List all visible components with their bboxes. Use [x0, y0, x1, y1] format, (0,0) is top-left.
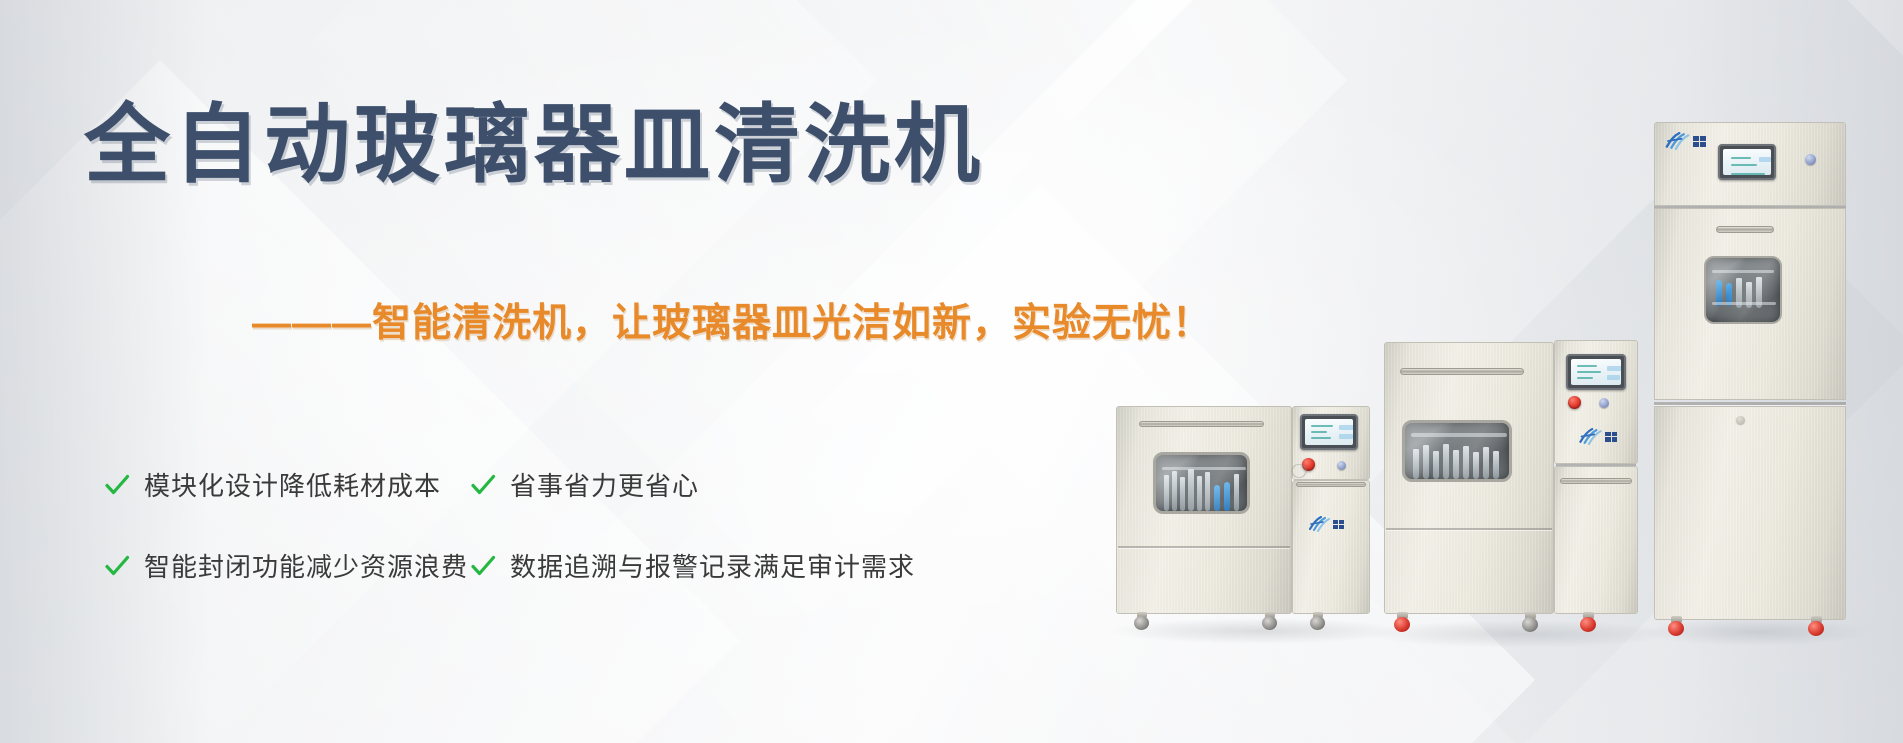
caster-wheel [1394, 612, 1411, 632]
brushed-steel-texture [1555, 467, 1637, 613]
screen-widget [1759, 157, 1771, 162]
touchscreen-display [1723, 149, 1771, 175]
tower-lower-cabinet [1554, 466, 1638, 614]
product-image-undercounter-washer [1112, 404, 1402, 644]
caster-wheel [1522, 612, 1539, 632]
logo-squares [1605, 432, 1617, 442]
window-reflection [1405, 423, 1509, 479]
panel-seam-highlight [1118, 548, 1290, 549]
touchscreen-display [1571, 359, 1621, 385]
button-label-ring [1290, 464, 1308, 478]
viewing-window [1153, 452, 1250, 514]
product-shadow [1366, 620, 1676, 648]
screen-widget [1607, 375, 1620, 380]
lower-cabinet [1654, 406, 1846, 620]
cabinet-latch[interactable] [1736, 416, 1745, 424]
h-logo-mark [1578, 428, 1602, 445]
viewing-window [1704, 256, 1782, 324]
touchscreen[interactable] [1300, 414, 1358, 450]
caster-wheel [1134, 612, 1150, 630]
brushed-steel-texture [1655, 407, 1845, 619]
h-brand-logo [1578, 428, 1617, 445]
screen-text-line [1311, 431, 1327, 433]
power-button[interactable] [1337, 461, 1346, 470]
caster-wheel [1310, 612, 1326, 630]
logo-squares [1693, 136, 1706, 147]
window-reflection [1156, 455, 1247, 511]
brushed-steel-texture [1293, 481, 1369, 613]
product-images [0, 0, 1903, 743]
screen-text-line [1311, 437, 1331, 439]
power-button[interactable] [1599, 398, 1609, 408]
product-image-freestanding-washer [1370, 328, 1670, 648]
screen-text-line [1731, 157, 1751, 159]
screen-text-line [1311, 425, 1333, 427]
screen-text-line [1577, 377, 1593, 379]
h-logo-mark [1664, 132, 1690, 150]
panel-seam-highlight [1386, 530, 1552, 531]
door-handle [1139, 421, 1264, 427]
door-handle [1400, 368, 1524, 375]
h-logo-mark [1308, 516, 1330, 532]
caster-wheel [1668, 616, 1685, 636]
screen-text-line [1731, 173, 1765, 175]
caster-wheel [1262, 612, 1278, 630]
door-handle [1716, 226, 1774, 233]
screen-text-line [1577, 371, 1601, 373]
product-banner: 全自动玻璃器皿清洗机 ———智能清洗机，让玻璃器皿光洁如新，实验无忧！ 模块化设… [0, 0, 1903, 743]
screen-widget [1339, 434, 1353, 439]
logo-squares [1333, 520, 1344, 529]
screen-text-line [1731, 164, 1757, 166]
caster-wheel [1808, 616, 1825, 636]
cabinet-handle [1560, 478, 1632, 484]
screen-widget [1607, 366, 1621, 371]
caster-wheel [1580, 612, 1597, 632]
product-image-tall-column-washer [1648, 118, 1868, 648]
screen-text-line [1577, 365, 1597, 367]
h-brand-logo [1664, 132, 1706, 150]
touchscreen[interactable] [1718, 144, 1776, 180]
viewing-window [1402, 420, 1512, 482]
touchscreen-display [1305, 419, 1353, 445]
power-button[interactable] [1805, 154, 1816, 165]
touchscreen[interactable] [1566, 354, 1626, 390]
emergency-stop-button[interactable] [1568, 396, 1581, 409]
cabinet-handle [1296, 482, 1366, 487]
product-shadow [1108, 618, 1408, 644]
tower-lower-cabinet [1292, 480, 1370, 614]
window-reflection [1706, 258, 1780, 322]
screen-widget [1339, 425, 1353, 430]
h-brand-logo [1308, 516, 1344, 532]
